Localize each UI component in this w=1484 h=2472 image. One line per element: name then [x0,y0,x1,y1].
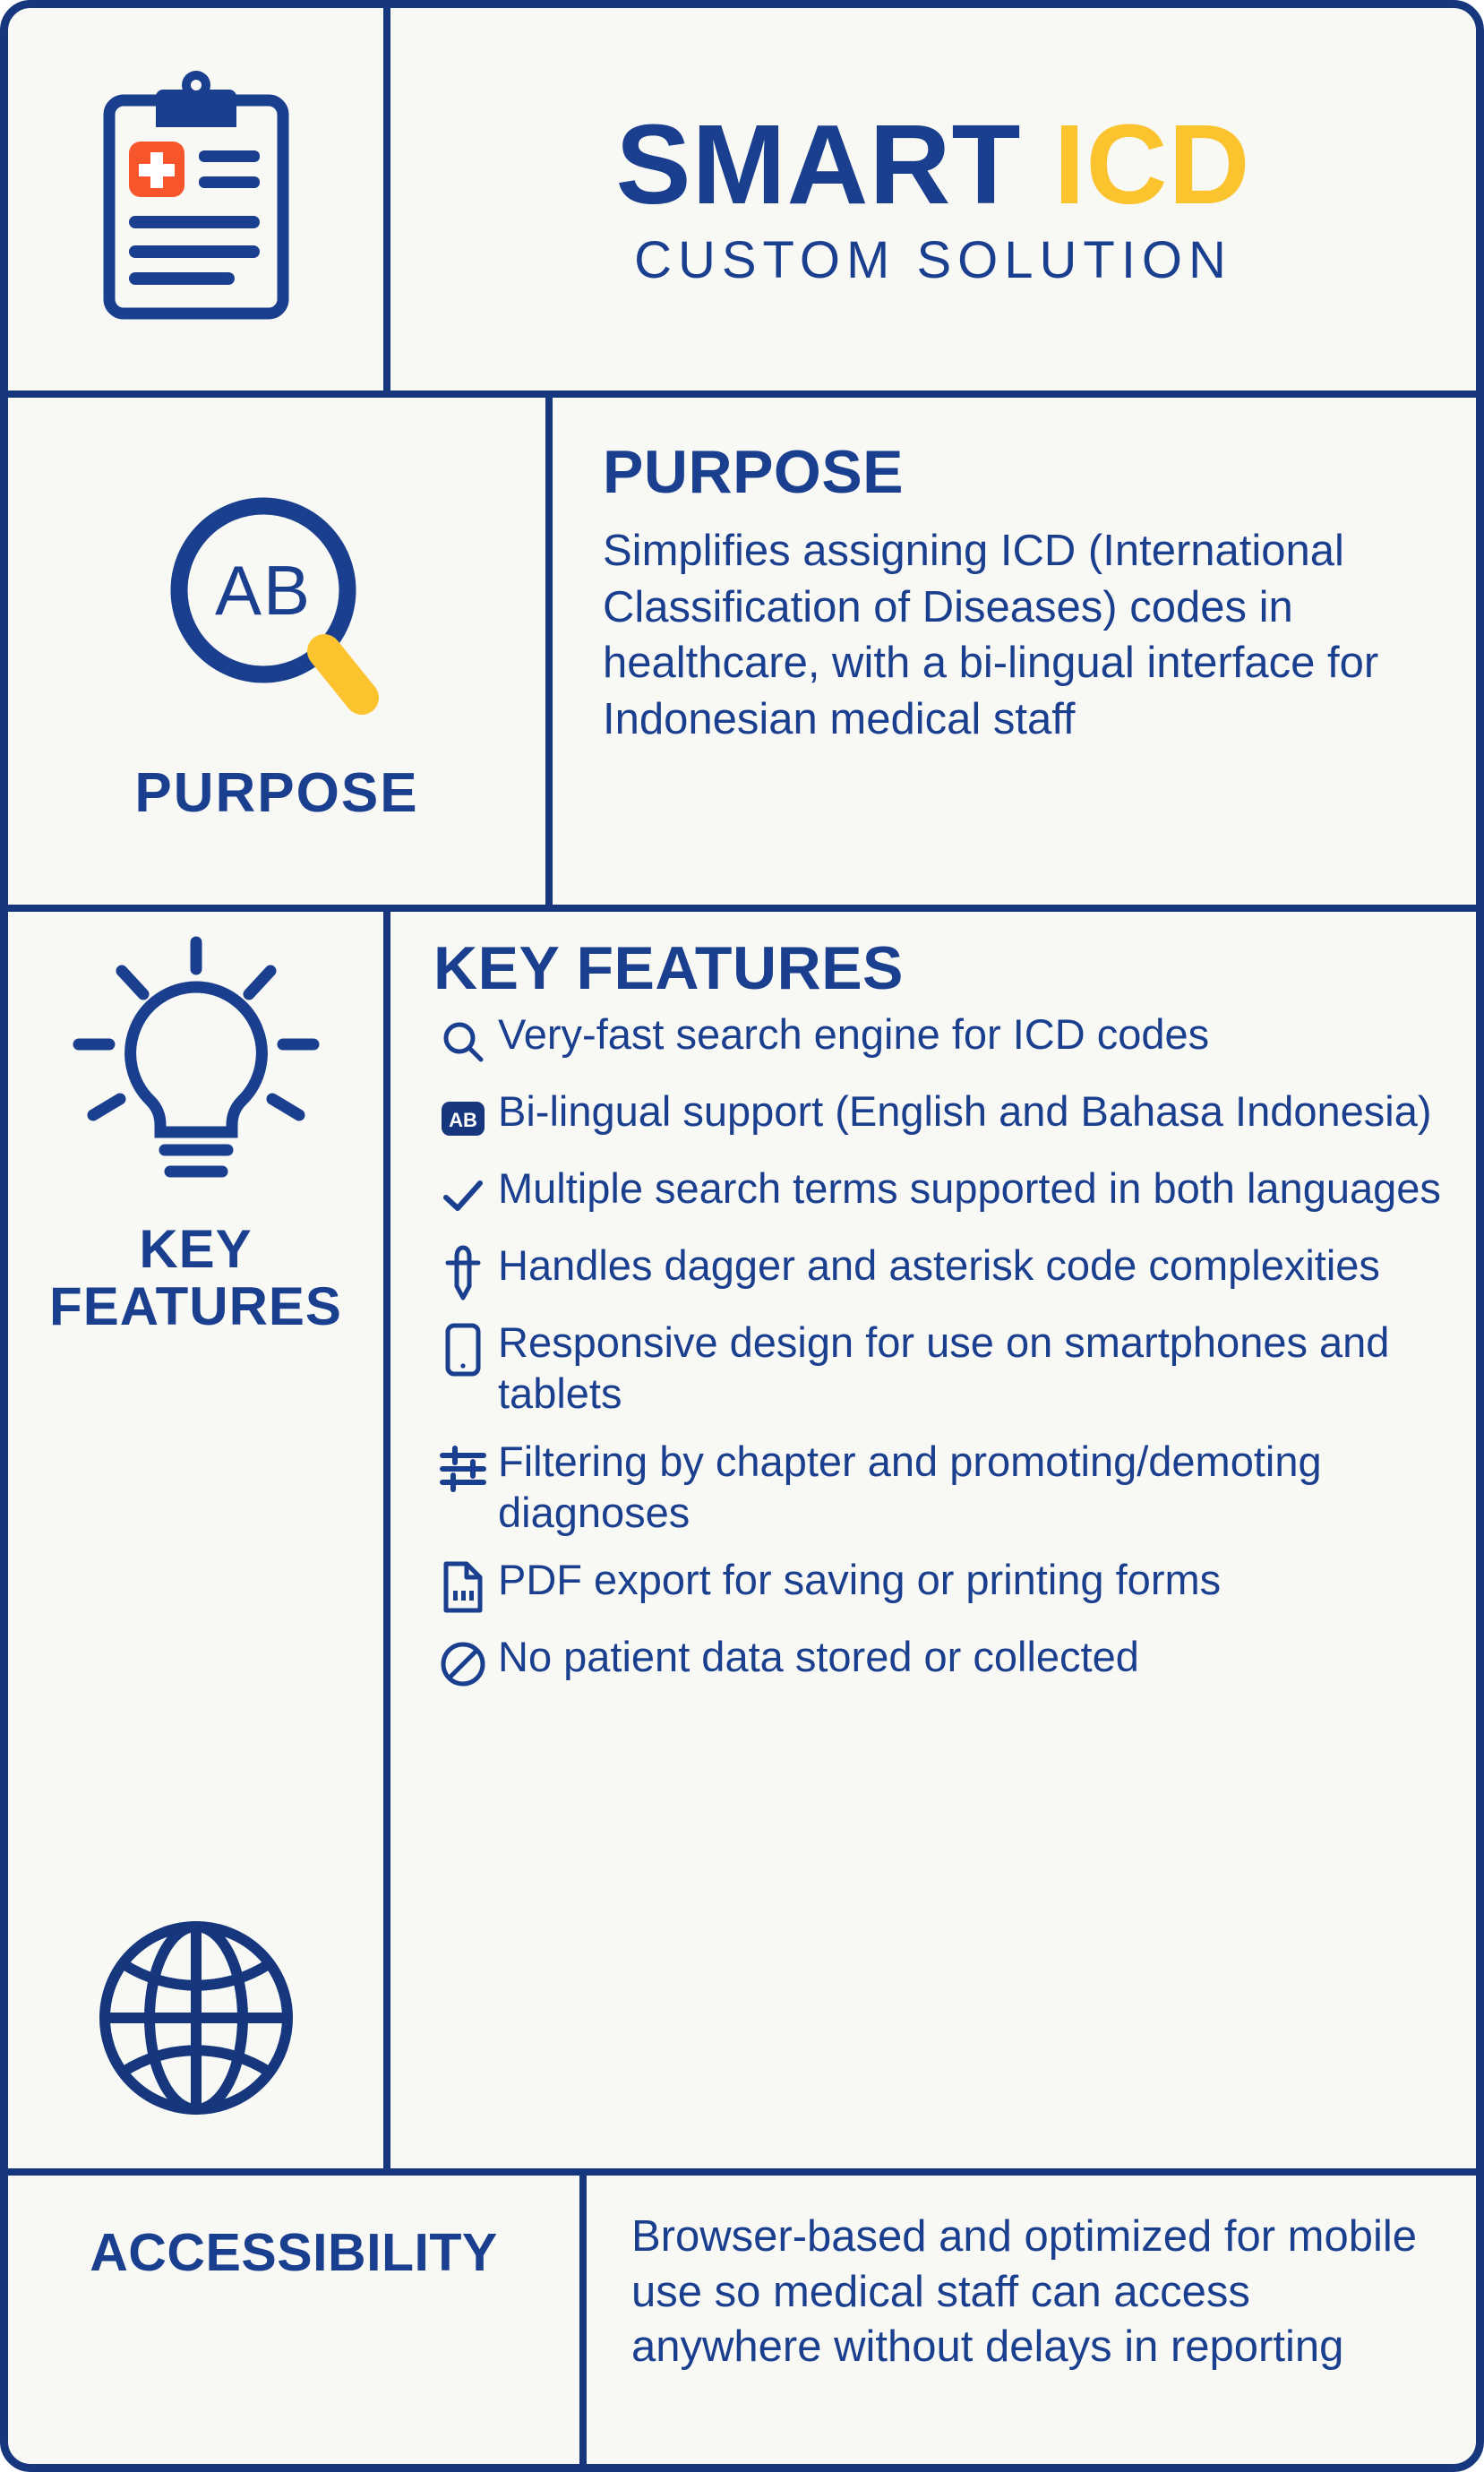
title-cell: SMART ICD CUSTOM SOLUTION [390,8,1476,391]
feature-text: PDF export for saving or printing forms [493,1554,1221,1605]
header-section: SMART ICD CUSTOM SOLUTION [8,8,1476,391]
purpose-section: AB PURPOSE PURPOSE Simplifies assigning … [8,398,1476,905]
feature-text: Handles dagger and asterisk code complex… [493,1240,1380,1291]
features-side-label-line2: FEATURES [8,1278,383,1335]
infographic-poster: SMART ICD CUSTOM SOLUTION AB PURPOSE PUR… [0,0,1484,2472]
ab-badge-icon: AB [433,1091,493,1146]
purpose-icon-cell: AB PURPOSE [8,398,545,905]
brand-smart: SMART [616,101,1022,227]
features-side-label-line1: KEY [8,1221,383,1278]
key-features-section: KEY FEATURES KEY FEATURES [8,912,1476,2168]
feature-item: No patient data stored or collected [433,1631,1456,1692]
search-icon [433,1014,493,1069]
checkmark-icon [433,1168,493,1223]
feature-text: Multiple search terms supported in both … [493,1163,1441,1214]
svg-text:AB: AB [449,1109,477,1131]
brand-tagline: CUSTOM SOLUTION [634,230,1232,290]
purpose-text-cell: PURPOSE Simplifies assigning ICD (Intern… [560,398,1476,905]
lightbulb-wrap [8,931,383,1200]
feature-item: PDF export for saving or printing forms [433,1554,1456,1615]
features-text-cell: KEY FEATURES Very-fast search engine for… [390,912,1476,2168]
purpose-body: Simplifies assigning ICD (International … [603,523,1445,748]
smartphone-icon [433,1322,493,1378]
features-vertical-divider [383,912,390,2168]
feature-item: Multiple search terms supported in both … [433,1163,1456,1223]
feature-item: Very-fast search engine for ICD codes [433,1009,1456,1069]
features-icon-cell: KEY FEATURES [8,912,383,2168]
features-side-label: KEY FEATURES [8,1221,383,1335]
feature-item: Handles dagger and asterisk code complex… [433,1240,1456,1300]
feature-text: Filtering by chapter and promoting/demot… [493,1436,1456,1539]
feature-text: Very-fast search engine for ICD codes [493,1009,1209,1060]
medical-clipboard-icon [93,70,299,330]
feature-item: Filtering by chapter and promoting/demot… [433,1436,1456,1539]
feature-text: No patient data stored or collected [493,1631,1139,1682]
lightbulb-icon [66,931,326,1200]
divider-header-purpose [8,391,1476,398]
divider-features-accessibility [8,2168,1476,2176]
accessibility-label: ACCESSIBILITY [90,2222,498,2283]
accessibility-body: Browser-based and optimized for mobile u… [631,2210,1449,2375]
brand-title: SMART ICD [616,108,1251,221]
globe-wrap [8,1915,383,2121]
globe-icon [93,1915,299,2121]
filter-sliders-icon [433,1441,493,1497]
magnifier-ab-icon: AB [142,478,411,747]
svg-text:AB: AB [215,551,312,630]
purpose-side-label: PURPOSE [134,761,418,825]
pdf-file-icon [433,1559,493,1615]
purpose-vertical-divider [545,398,553,905]
header-vertical-divider [383,8,390,391]
divider-purpose-features [8,905,1476,912]
feature-item: AB Bi-lingual support (English and Bahas… [433,1086,1456,1146]
feature-text: Bi-lingual support (English and Bahasa I… [493,1086,1432,1137]
purpose-heading: PURPOSE [603,437,1445,507]
accessibility-section: ACCESSIBILITY Browser-based and optimize… [8,2176,1476,2464]
accessibility-vertical-divider [579,2176,587,2472]
features-heading: KEY FEATURES [433,933,1456,1003]
accessibility-label-cell: ACCESSIBILITY [8,2176,579,2464]
accessibility-text-cell: Browser-based and optimized for mobile u… [594,2176,1476,2464]
no-entry-icon [433,1636,493,1692]
logo-cell [8,8,383,391]
dagger-icon [433,1245,493,1300]
feature-text: Responsive design for use on smartphones… [493,1317,1456,1420]
feature-item: Responsive design for use on smartphones… [433,1317,1456,1420]
brand-icd: ICD [1053,101,1250,227]
